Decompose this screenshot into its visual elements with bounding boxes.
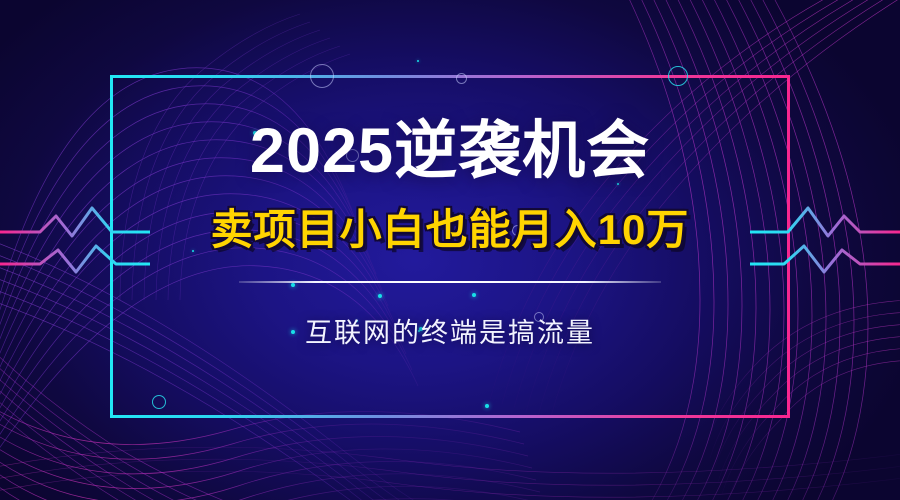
outline-circle-top-right	[668, 66, 688, 86]
outline-circle-top-left	[310, 64, 334, 88]
outline-circle-left	[152, 395, 166, 409]
text-divider	[239, 281, 661, 283]
poster-subtitle: 卖项目小白也能月入10万	[0, 207, 900, 252]
poster-text-block: 2025逆袭机会 卖项目小白也能月入10万 互联网的终端是搞流量	[0, 118, 900, 350]
particle-dot-11	[485, 404, 489, 408]
outline-circle-top-mid	[456, 73, 467, 84]
particle-dot-10	[417, 60, 419, 62]
promo-poster: 2025逆袭机会 卖项目小白也能月入10万 互联网的终端是搞流量	[0, 0, 900, 500]
poster-title: 2025逆袭机会	[0, 118, 900, 185]
poster-tagline: 互联网的终端是搞流量	[0, 311, 900, 350]
